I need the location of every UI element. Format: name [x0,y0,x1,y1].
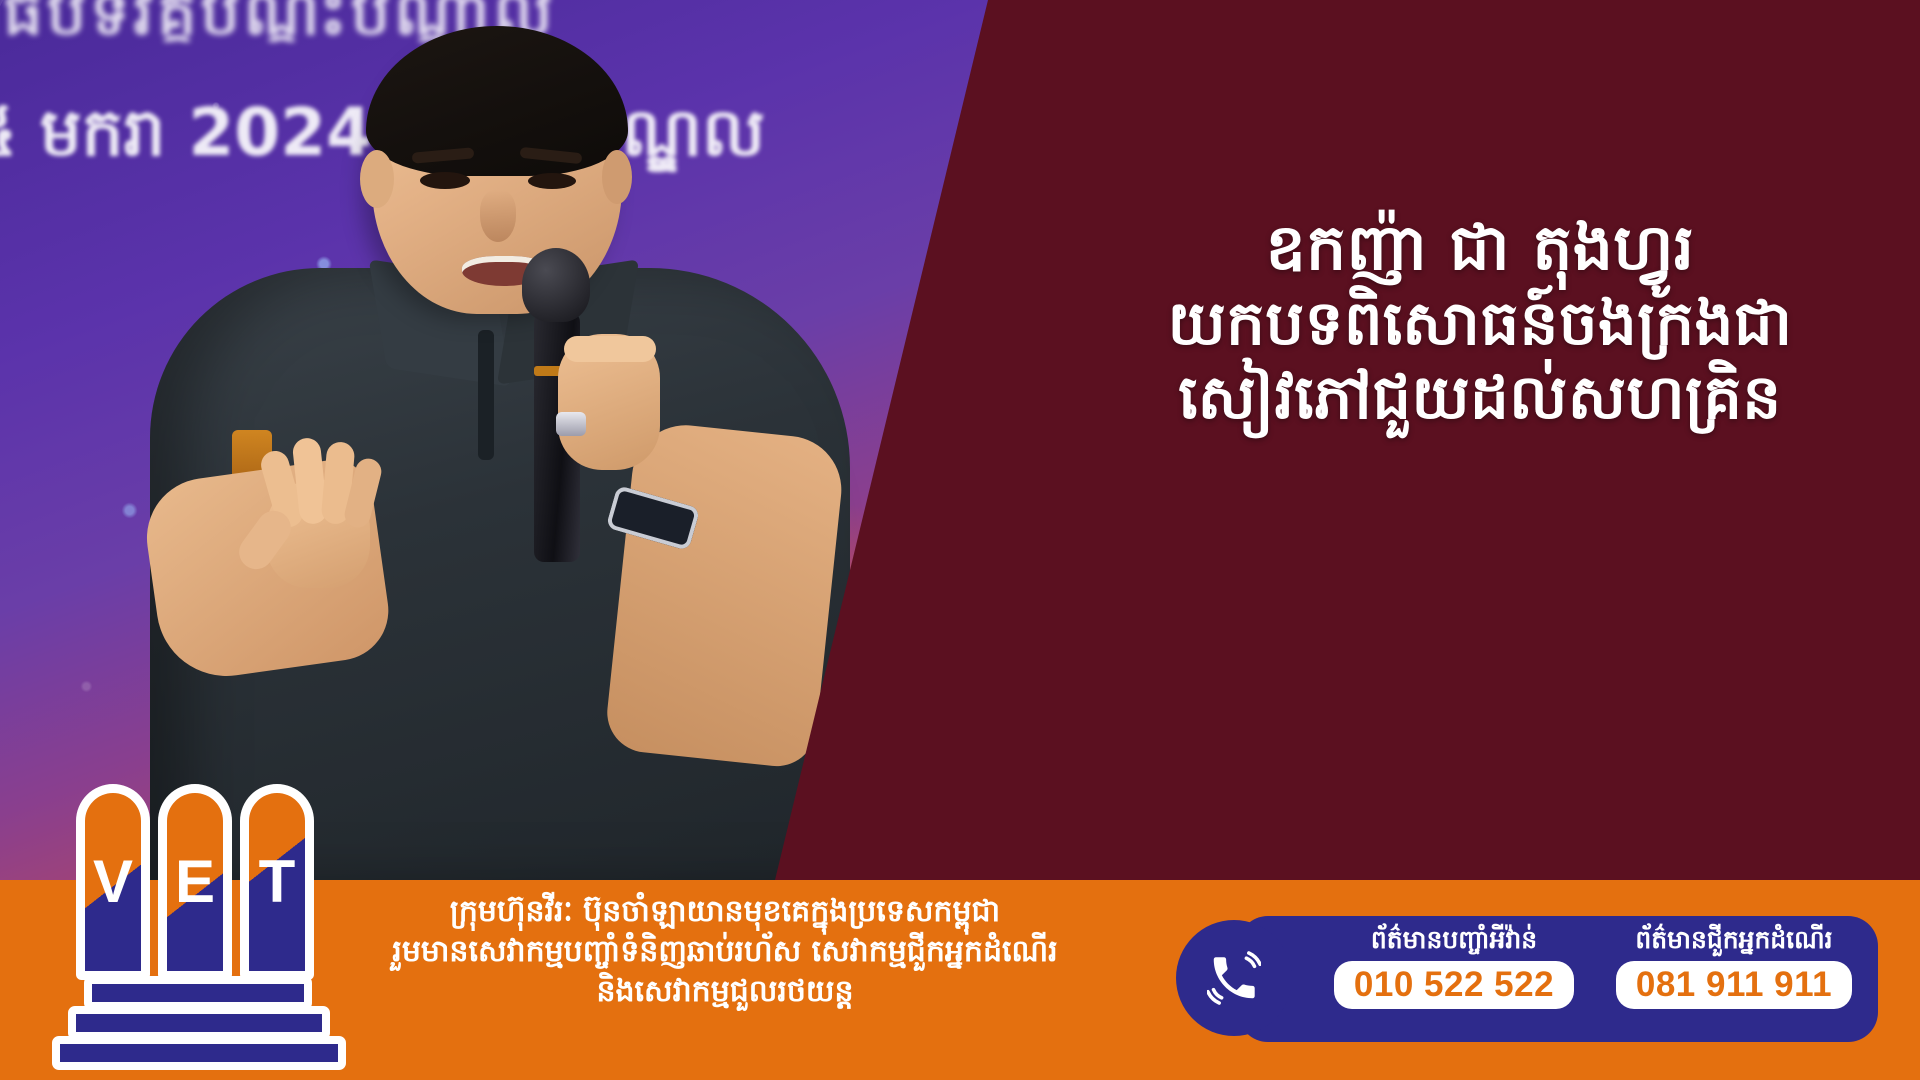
contact-caption-pawn: ព័ត៌មានបញ្ចាំអីវ៉ាន់ [1371,926,1537,955]
footer-copy-line-1: ក្រុមហ៊ុនវីរៈ ប៊ុនចាំឡាយានមុខគេក្នុងប្រទ… [330,892,1120,932]
logo-letter-v: V [93,852,133,912]
contact-panel: ព័ត៌មានបញ្ចាំអីវ៉ាន់ 010 522 522 ព័ត៌មាន… [1238,916,1878,1042]
ear-right [602,150,632,204]
finger-ring [556,412,586,436]
poster-root: ពិធីបិទវគ្គបណ្តុះបណ្តាល ៥ មករា 2024 | មជ… [0,0,1920,1080]
footer-copy-line-2: រួមមានសេវាកម្មបញ្ចាំទំនិញឆាប់រហ័ស សេវាកម… [330,932,1120,972]
logo-pillar-e: E [158,784,232,980]
vet-logo[interactable]: V E T [48,772,338,1072]
contact-number-pawn[interactable]: 010 522 522 [1334,961,1574,1009]
contact-column-pawn[interactable]: ព័ត៌មានបញ្ចាំអីវ៉ាន់ 010 522 522 [1324,926,1584,1034]
footer-copy-line-3: និងសេវាកម្មជួលរថយន្ត [330,972,1120,1012]
logo-pillar-t: T [240,784,314,980]
nose [480,190,516,242]
logo-pillar-v: V [76,784,150,980]
phone-ringing-icon [1176,920,1292,1036]
logo-step-bottom [52,1036,346,1070]
eye-right [528,173,576,189]
hand-left-gesture [250,432,380,592]
contact-number-transport[interactable]: 081 911 911 [1616,961,1852,1009]
logo-step-middle [68,1006,330,1040]
shirt-placket [478,330,494,460]
eye-left [420,172,470,189]
headline-line-2: យកបទពិសោធន៍ចងក្រងជា [1060,287,1900,361]
contact-column-transport[interactable]: ព័ត៌មានជួីកអ្នកដំណើរ 081 911 911 [1604,926,1864,1034]
footer-bar: V E T ក្រុមហ៊ុនវីរៈ ប៊ុនចាំឡាយានមុខគេក្ន… [0,880,1920,1080]
hair [366,26,628,176]
headline-line-1: ឧកញ៉ា ជា តុងហ្វូរ [1060,210,1900,287]
hand-right-holding-mic [538,300,678,490]
contact-caption-transport: ព័ត៌មានជួីកអ្នកដំណើរ [1635,926,1832,955]
headline-block: ឧកញ៉ា ជា តុងហ្វូរ យកបទពិសោធន៍ចងក្រងជា សៀ… [1060,210,1900,436]
ear-left [360,150,394,208]
headline-line-3: សៀវភៅជួយដល់សហគ្រិន [1060,361,1900,435]
logo-step-top [84,976,312,1010]
logo-letter-e: E [175,852,215,912]
contact-columns: ព័ត៌មានបញ្ចាំអីវ៉ាន់ 010 522 522 ព័ត៌មាន… [1324,926,1864,1034]
footer-description: ក្រុមហ៊ុនវីរៈ ប៊ុនចាំឡាយានមុខគេក្នុងប្រទ… [330,892,1120,1013]
logo-letter-t: T [259,852,296,912]
